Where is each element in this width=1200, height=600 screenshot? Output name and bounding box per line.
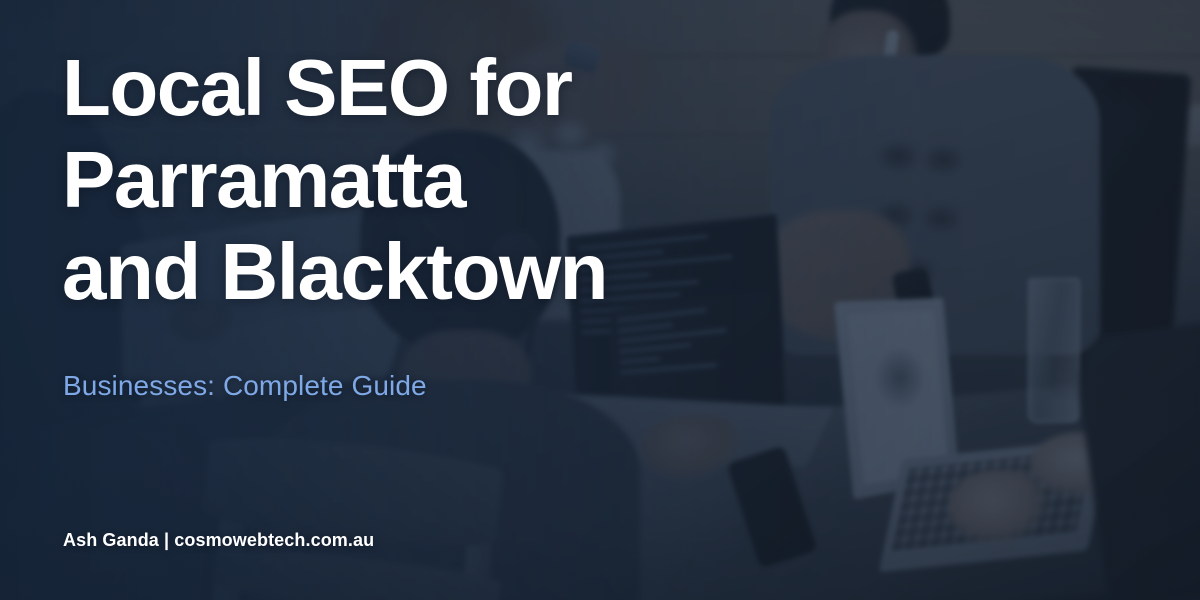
hero-banner: Local SEO for Parramatta and Blacktown B… <box>0 0 1200 600</box>
page-subtitle: Businesses: Complete Guide <box>63 370 427 402</box>
byline: Ash Ganda | cosmowebtech.com.au <box>63 530 374 551</box>
banner-content: Local SEO for Parramatta and Blacktown B… <box>62 0 1138 600</box>
page-title: Local SEO for Parramatta and Blacktown <box>62 42 622 318</box>
